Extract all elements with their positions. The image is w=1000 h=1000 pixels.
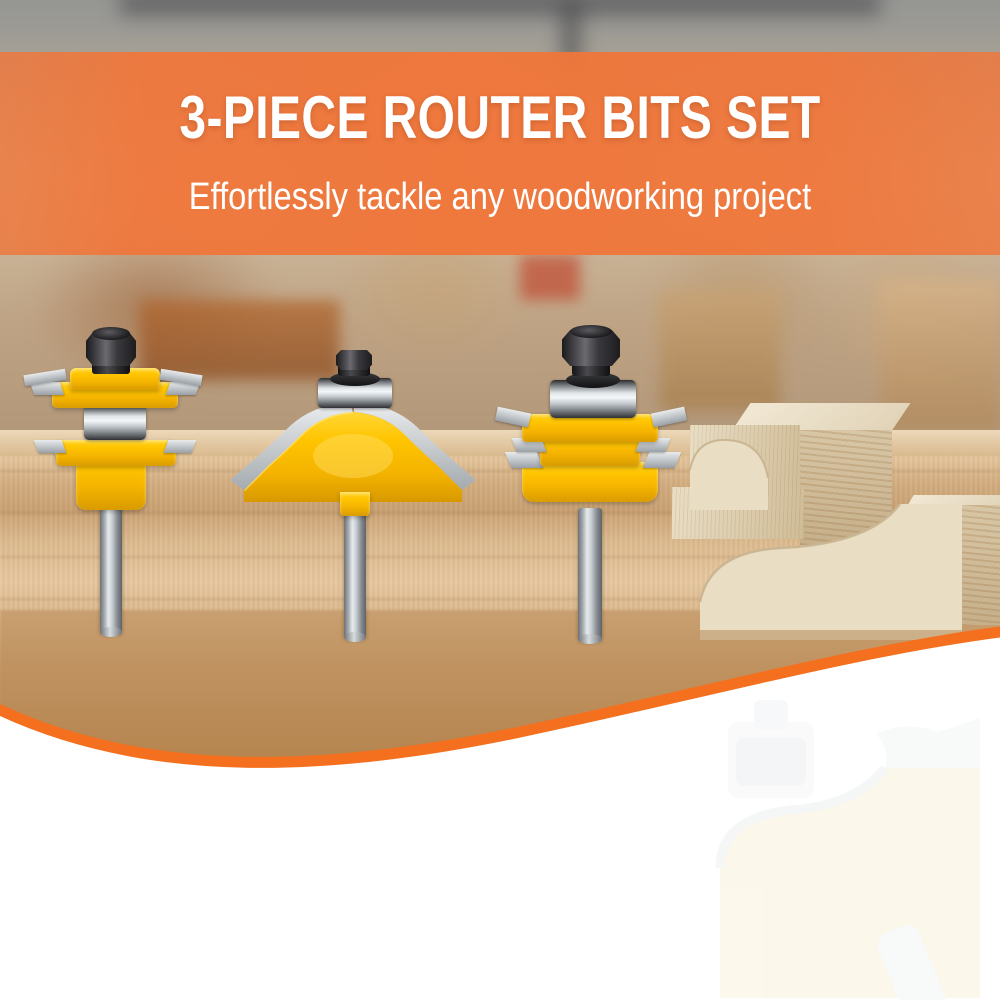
background-lumber-2 <box>660 290 780 410</box>
spec-section: Set Details (mm): Stile & Rail Set-Ogee … <box>0 760 1000 1000</box>
page-subtitle: Effortlessly tackle any woodworking proj… <box>70 178 930 216</box>
background-lumber-1 <box>140 300 340 380</box>
page-title: 3-PIECE ROUTER BITS SET <box>100 88 900 148</box>
background-red-object <box>520 255 580 300</box>
header-band <box>0 52 1000 255</box>
product-marketing-poster: 3-PIECE ROUTER BITS SET Effortlessly tac… <box>0 0 1000 1000</box>
ceiling-beam <box>120 0 880 16</box>
